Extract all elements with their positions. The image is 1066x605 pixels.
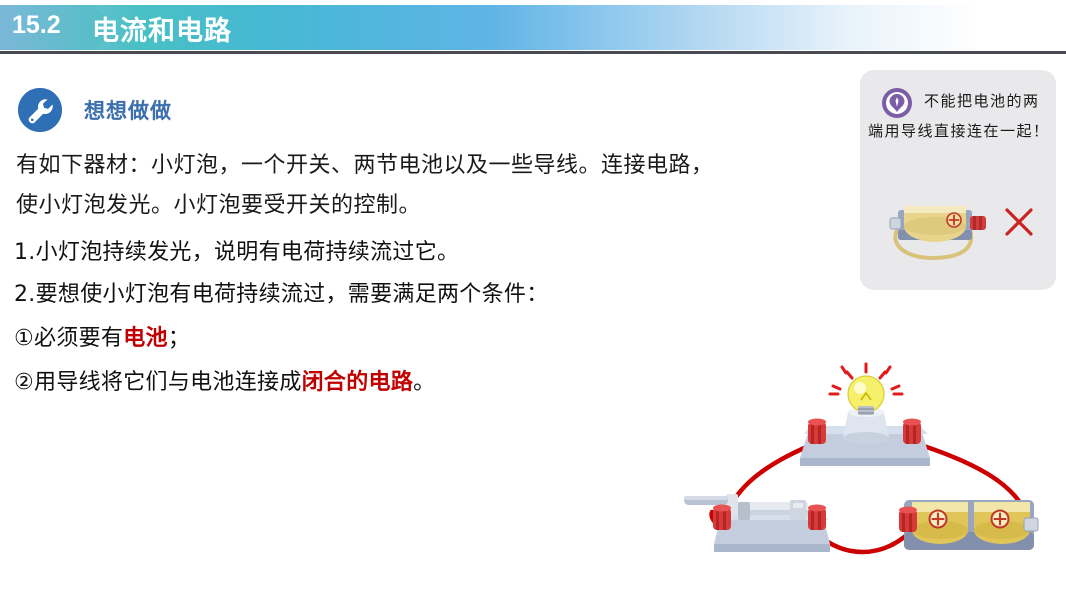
condition-1-highlight: 电池 bbox=[123, 326, 168, 351]
red-x-icon bbox=[1002, 205, 1036, 239]
conclusion-point-1: 1.小灯泡持续发光，说明有电荷持续流过它。 bbox=[14, 234, 459, 266]
condition-2-suffix: 。 bbox=[413, 370, 435, 395]
section-number: 15.2 bbox=[12, 11, 61, 40]
condition-item-2: ②用导线将它们与电池连接成闭合的电路。 bbox=[14, 364, 435, 396]
conclusion-point-2: 2.要想使小灯泡有电荷持续流过，需要满足两个条件： bbox=[14, 276, 549, 308]
short-circuited-battery-figure bbox=[884, 192, 996, 262]
condition-1-prefix: ①必须要有 bbox=[14, 326, 123, 351]
warning-text: 不能把电池的两端用导线直接连在一起！ bbox=[868, 86, 1050, 146]
warning-callout: 不能把电池的两端用导线直接连在一起！ bbox=[860, 70, 1056, 290]
condition-1-suffix: ； bbox=[168, 326, 190, 351]
condition-item-1: ①必须要有电池； bbox=[14, 320, 190, 352]
condition-2-highlight: 闭合的电路 bbox=[302, 370, 414, 395]
section-heading-label: 想想做做 bbox=[84, 95, 172, 125]
intro-paragraph-line-1: 有如下器材：小灯泡，一个开关、两节电池以及一些导线。连接电路， bbox=[16, 146, 846, 186]
intro-paragraph-line-2: 使小灯泡发光。小灯泡要受开关的控制。 bbox=[16, 186, 846, 226]
wrench-icon bbox=[18, 88, 62, 132]
header-divider bbox=[0, 51, 1066, 54]
section-heading: 想想做做 bbox=[18, 88, 172, 132]
page-title: 电流和电路 bbox=[92, 9, 232, 48]
circuit-illustration bbox=[680, 362, 1066, 600]
condition-2-prefix: ②用导线将它们与电池连接成 bbox=[14, 370, 302, 395]
